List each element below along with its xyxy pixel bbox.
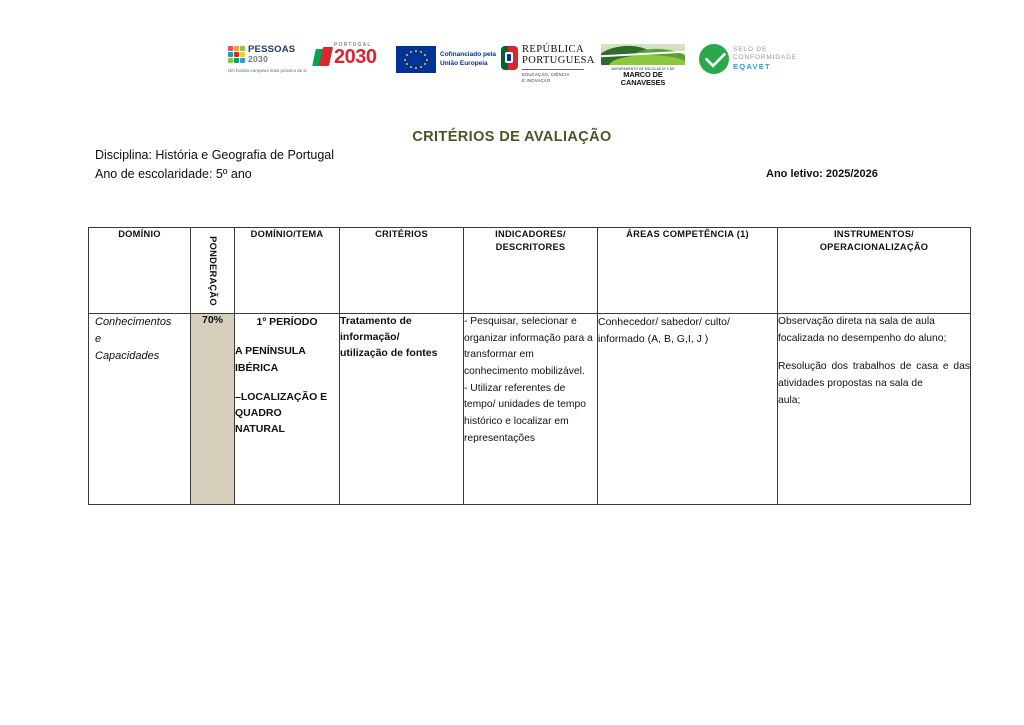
indicadores-paragraph-2: - Utilizar referentes de tempo/ unidades…	[464, 381, 597, 448]
column-header-indicadores: INDICADORES/ DESCRITORES	[464, 228, 598, 314]
tema-spacer-1	[235, 330, 339, 343]
column-header-dominio-label: DOMÍNIO	[89, 228, 190, 241]
instrumentos-paragraph-1: Observação direta na sala de aula focali…	[778, 314, 970, 347]
dominio-line1: Conhecimentos	[95, 314, 190, 331]
republica-line1: REPÚBLICA	[522, 44, 595, 55]
column-header-criterios-label: CRITÉRIOS	[340, 228, 463, 241]
tema-line4: QUADRO	[235, 405, 339, 421]
eu-logo-line1: Cofinanciado pela	[440, 51, 496, 60]
cell-ponderacao: 70%	[191, 314, 235, 505]
institutional-logo-bar: PESSOAS 2030 Um fundos europeus mais pró…	[228, 42, 828, 88]
column-header-indicadores-line2: DESCRITORES	[496, 242, 566, 252]
indicadores-paragraph-1: - Pesquisar, selecionar e organizar info…	[464, 314, 597, 381]
tema-line1: A PENÍNSULA	[235, 343, 339, 359]
portugal-coat-of-arms-icon	[501, 46, 518, 70]
column-header-criterios: CRITÉRIOS	[340, 228, 464, 314]
tema-line3: –LOCALIZAÇÃO E	[235, 389, 339, 405]
cell-criterios: Tratamento de informação/ utilização de …	[340, 314, 464, 505]
republica-portuguesa-logo: REPÚBLICA PORTUGUESA EDUCAÇÃO, CIÊNCIA E…	[501, 42, 601, 85]
cell-areas-competencia: Conhecedor/ sabedor/ culto/ informado (A…	[598, 314, 778, 505]
column-header-instrumentos-line2: OPERACIONALIZAÇÃO	[820, 242, 929, 252]
cell-dominio: Conhecimentos e Capacidades	[89, 314, 191, 505]
column-header-instrumentos: INSTRUMENTOS/ OPERACIONALIZAÇÃO	[778, 228, 971, 314]
instrumentos-paragraph-2: Resolução dos trabalhos de casa e das at…	[778, 359, 970, 392]
checkmark-icon	[699, 44, 729, 74]
criterios-line3: utilização de fontes	[340, 346, 463, 362]
column-header-dominio-tema-label: DOMÍNIO/TEMA	[235, 228, 339, 241]
column-header-instrumentos-line1: INSTRUMENTOS/	[834, 229, 914, 239]
page-title: CRITÉRIOS DE AVALIAÇÃO	[0, 129, 1024, 145]
republica-sub2: E INOVAÇÃO	[522, 78, 595, 84]
eu-logo-line2: União Europeia	[440, 60, 496, 69]
meta-ano-escolaridade: Ano de escolaridade: 5º ano	[95, 167, 252, 181]
ponderacao-value: 70%	[191, 314, 234, 326]
pessoas-2030-mark-icon	[228, 46, 245, 63]
column-header-areas-competencia-label: ÁREAS COMPETÊNCIA (1)	[598, 228, 777, 241]
column-header-dominio-tema: DOMÍNIO/TEMA	[235, 228, 340, 314]
tema-line2: IBÉRICA	[235, 360, 339, 376]
dominio-line2: e	[95, 331, 190, 348]
hills-landscape-icon	[601, 44, 685, 65]
dominio-line3: Capacidades	[95, 348, 190, 365]
column-header-indicadores-line1: INDICADORES/	[495, 229, 566, 239]
tema-line5: NATURAL	[235, 421, 339, 437]
column-header-dominio: DOMÍNIO	[89, 228, 191, 314]
cell-indicadores-descritores: - Pesquisar, selecionar e organizar info…	[464, 314, 598, 505]
column-header-areas-competencia: ÁREAS COMPETÊNCIA (1)	[598, 228, 778, 314]
cell-dominio-tema: 1º PERÍODO A PENÍNSULA IBÉRICA –LOCALIZA…	[235, 314, 340, 505]
republica-line2: PORTUGUESA	[522, 55, 595, 66]
instrumentos-spacer	[778, 347, 970, 359]
areas-competencia-text: Conhecedor/ sabedor/ culto/ informado (A…	[598, 314, 777, 348]
column-header-ponderacao-label: PONDERAÇÃO	[208, 236, 218, 306]
selo-eqavet-logo: SELO DE CONFORMIDADE EQAVET	[699, 42, 814, 74]
portugal-flag-icon	[314, 47, 332, 67]
meta-ano-letivo: Ano letivo: 2025/2026	[766, 168, 878, 180]
column-header-ponderacao: PONDERAÇÃO	[191, 228, 235, 314]
pessoas-logo-year: 2030	[248, 55, 295, 64]
criterios-line2: informação/	[340, 330, 463, 346]
pessoas-2030-logo: PESSOAS 2030 Um fundos europeus mais pró…	[228, 42, 314, 73]
table-row: Conhecimentos e Capacidades 70% 1º PERÍO…	[89, 314, 971, 505]
selo-line1: SELO DE	[733, 46, 797, 54]
republica-divider	[522, 69, 584, 70]
eu-flag-icon	[396, 46, 436, 73]
pessoas-logo-tagline: Um fundos europeus mais próximo de si	[228, 68, 307, 73]
selo-line3: EQAVET	[733, 62, 797, 71]
instrumentos-paragraph-3: aula;	[778, 393, 970, 410]
meta-disciplina: Disciplina: História e Geografia de Port…	[95, 148, 334, 162]
selo-line2: CONFORMIDADE	[733, 54, 797, 62]
criterios-avaliacao-table: DOMÍNIO PONDERAÇÃO DOMÍNIO/TEMA CRITÉRIO…	[88, 227, 971, 505]
european-union-cofinancing-logo: Cofinanciado pela União Europeia	[396, 42, 501, 73]
table-header-row: DOMÍNIO PONDERAÇÃO DOMÍNIO/TEMA CRITÉRIO…	[89, 228, 971, 314]
portugal-2030-year: 2030	[334, 48, 377, 67]
agrupamento-name-label: MARCO DE CANAVESES	[601, 71, 685, 87]
agrupamento-marco-de-canaveses-logo: AGRUPAMENTO DE ESCOLAS Nº 1 DE MARCO DE …	[601, 42, 699, 87]
portugal-2030-logo: PORTUGAL 2030	[314, 42, 396, 67]
cell-instrumentos-operacionalizacao: Observação direta na sala de aula focali…	[778, 314, 971, 505]
tema-spacer-2	[235, 376, 339, 389]
criterios-line1: Tratamento de	[340, 314, 463, 330]
tema-periodo: 1º PERÍODO	[235, 314, 339, 330]
